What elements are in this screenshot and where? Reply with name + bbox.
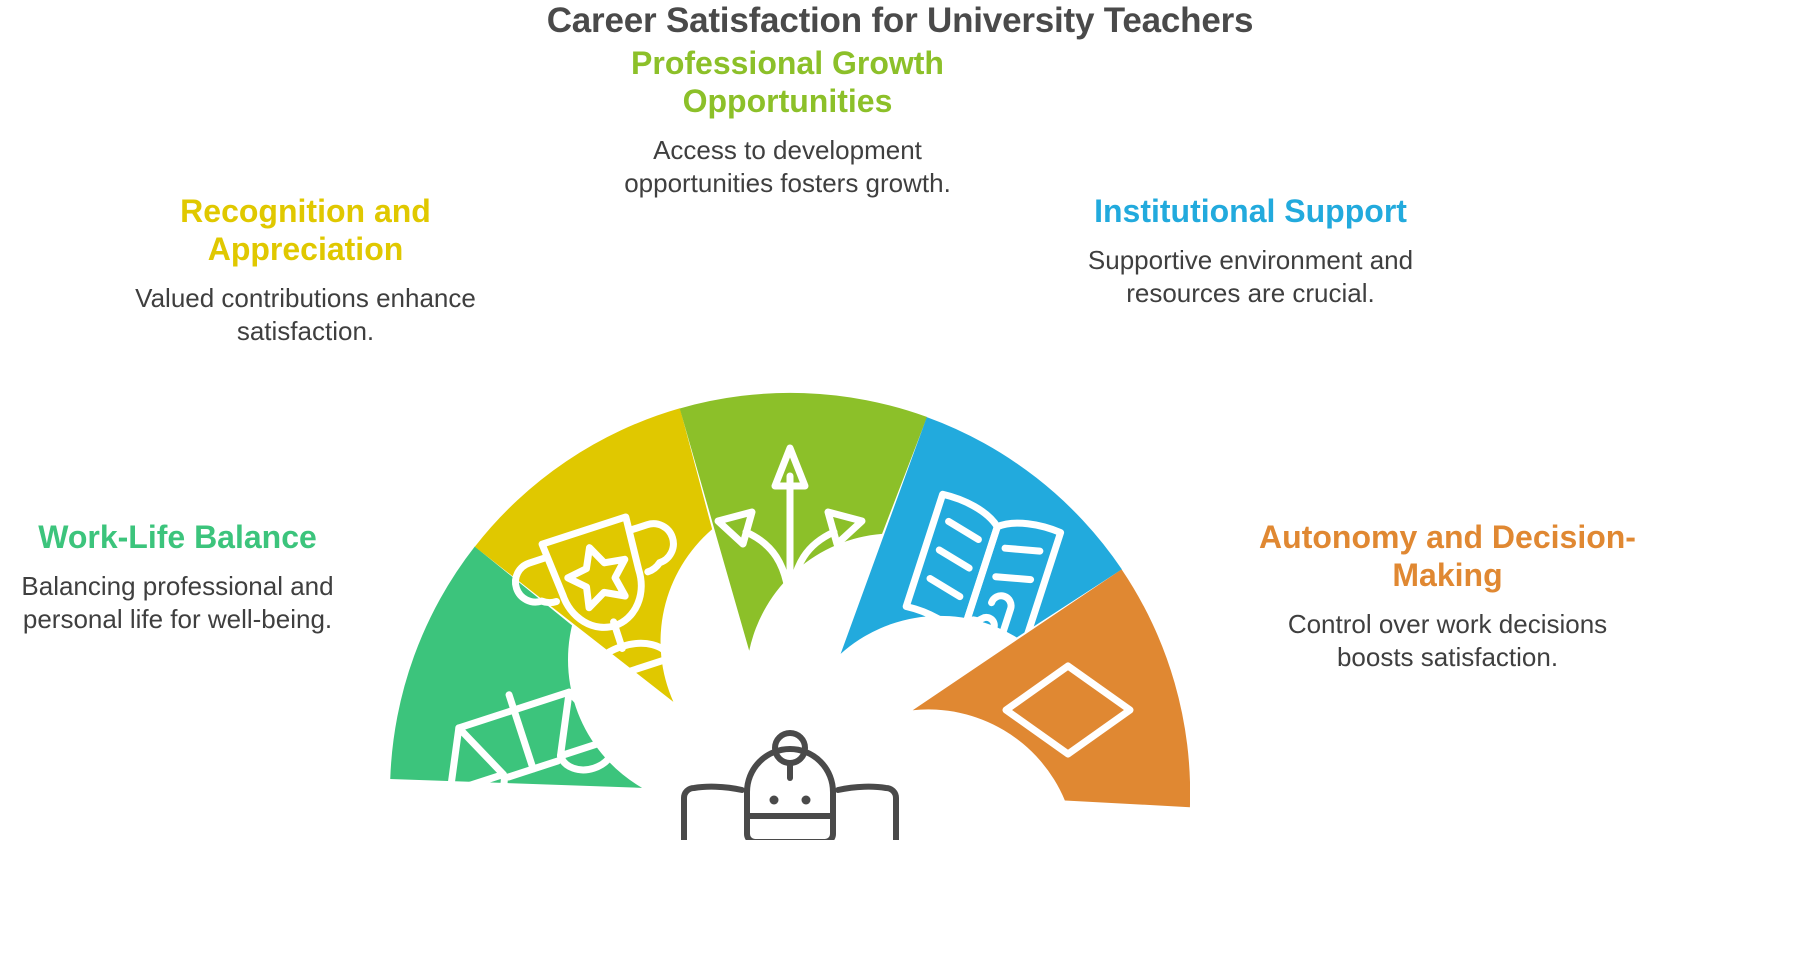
- block-heading-professional-growth: Professional Growth Opportunities: [600, 44, 975, 120]
- block-heading-work-life-balance: Work-Life Balance: [0, 518, 365, 556]
- block-description-professional-growth: Access to development opportunities fost…: [600, 134, 975, 200]
- block-autonomy-decision-making: Autonomy and Decision-Making Control ove…: [1255, 518, 1640, 674]
- block-recognition-appreciation: Recognition and Appreciation Valued cont…: [118, 192, 493, 348]
- page-title: Career Satisfaction for University Teach…: [0, 0, 1800, 42]
- block-heading-recognition-appreciation: Recognition and Appreciation: [118, 192, 493, 268]
- block-institutional-support: Institutional Support Supportive environ…: [1063, 192, 1438, 310]
- robot-head-open-book-icon: [684, 733, 896, 840]
- block-description-institutional-support: Supportive environment and resources are…: [1063, 244, 1438, 310]
- block-heading-autonomy-decision-making: Autonomy and Decision-Making: [1255, 518, 1640, 594]
- block-description-autonomy-decision-making: Control over work decisions boosts satis…: [1255, 608, 1640, 674]
- block-professional-growth: Professional Growth Opportunities Access…: [600, 44, 975, 200]
- fan-chart: [390, 390, 1190, 840]
- block-heading-institutional-support: Institutional Support: [1063, 192, 1438, 230]
- block-description-work-life-balance: Balancing professional and personal life…: [0, 570, 365, 636]
- block-description-recognition-appreciation: Valued contributions enhance satisfactio…: [118, 282, 493, 348]
- infographic-canvas: Career Satisfaction for University Teach…: [0, 0, 1800, 966]
- block-work-life-balance: Work-Life Balance Balancing professional…: [0, 518, 365, 636]
